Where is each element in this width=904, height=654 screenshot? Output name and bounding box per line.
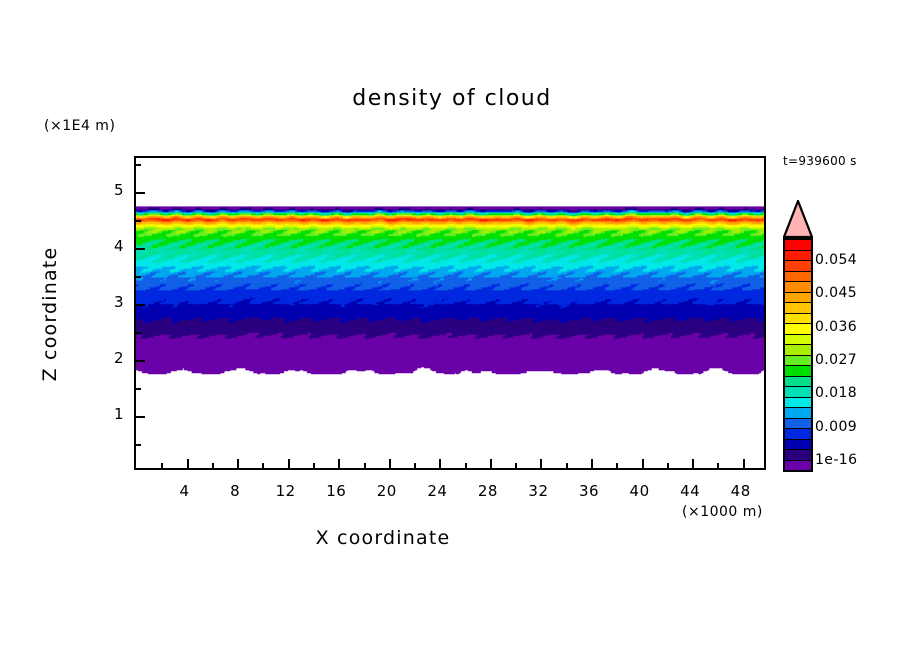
colorbar-extend-arrow-icon	[783, 200, 813, 238]
colorbar-band	[785, 408, 811, 419]
y-tick-minor	[136, 164, 141, 166]
colorbar-tick-label: 0.018	[815, 385, 857, 401]
colorbar-band	[785, 440, 811, 451]
y-tick-major	[136, 416, 145, 418]
colorbar-band	[785, 461, 811, 471]
x-tick-minor	[566, 463, 568, 468]
x-tick-minor	[364, 463, 366, 468]
x-tick-major	[692, 459, 694, 468]
x-tick-label: 44	[680, 482, 700, 500]
x-tick-label: 20	[377, 482, 397, 500]
x-tick-label: 48	[731, 482, 751, 500]
x-tick-minor	[414, 463, 416, 468]
y-tick-minor	[136, 388, 141, 390]
y-tick-label: 5	[100, 181, 124, 199]
colorbar-band	[785, 303, 811, 314]
colorbar-band	[785, 251, 811, 262]
x-tick-minor	[667, 463, 669, 468]
colorbar-band	[785, 345, 811, 356]
x-axis-unit-label: (×1000 m)	[682, 504, 763, 520]
time-annotation: t=939600 s	[783, 154, 857, 168]
x-tick-major	[490, 459, 492, 468]
y-tick-minor	[136, 220, 141, 222]
x-tick-major	[591, 459, 593, 468]
x-tick-label: 16	[326, 482, 346, 500]
y-tick-major	[136, 304, 145, 306]
density-field-heatmap	[136, 158, 764, 468]
x-tick-label: 24	[427, 482, 447, 500]
x-tick-label: 32	[528, 482, 548, 500]
chart-title: density of cloud	[0, 86, 904, 111]
y-axis-title: Z coordinate	[39, 219, 61, 409]
colorbar-band	[785, 356, 811, 367]
x-tick-major	[389, 459, 391, 468]
x-tick-minor	[262, 463, 264, 468]
colorbar-tick-label: 0.036	[815, 319, 857, 335]
colorbar-tick-label: 0.009	[815, 419, 857, 435]
y-tick-minor	[136, 332, 141, 334]
y-tick-label: 1	[100, 405, 124, 423]
x-tick-major	[439, 459, 441, 468]
colorbar-band	[785, 293, 811, 304]
x-tick-minor	[212, 463, 214, 468]
y-tick-minor	[136, 276, 141, 278]
colorbar-band	[785, 398, 811, 409]
plot-area	[134, 156, 766, 470]
colorbar-band	[785, 282, 811, 293]
x-tick-major	[288, 459, 290, 468]
x-tick-minor	[465, 463, 467, 468]
x-tick-minor	[313, 463, 315, 468]
x-tick-label: 4	[180, 482, 190, 500]
z-axis-unit-label: (×1E4 m)	[44, 118, 115, 134]
colorbar-band	[785, 429, 811, 440]
x-tick-minor	[161, 463, 163, 468]
colorbar-band	[785, 387, 811, 398]
x-tick-major	[743, 459, 745, 468]
colorbar-band	[785, 335, 811, 346]
x-tick-major	[540, 459, 542, 468]
x-tick-label: 12	[276, 482, 296, 500]
x-tick-label: 36	[579, 482, 599, 500]
x-axis-title: X coordinate	[0, 527, 766, 549]
y-tick-minor	[136, 444, 141, 446]
colorbar-tick-label: 1e-16	[815, 452, 857, 468]
colorbar-band	[785, 324, 811, 335]
colorbar-bands	[783, 238, 813, 472]
y-tick-label: 2	[100, 349, 124, 367]
x-tick-major	[237, 459, 239, 468]
colorbar-band	[785, 314, 811, 325]
x-tick-major	[642, 459, 644, 468]
x-tick-minor	[515, 463, 517, 468]
colorbar: 0.0540.0450.0360.0270.0180.0091e-16	[783, 200, 813, 472]
x-tick-major	[338, 459, 340, 468]
colorbar-band	[785, 272, 811, 283]
colorbar-tick-label: 0.027	[815, 352, 857, 368]
colorbar-band	[785, 366, 811, 377]
colorbar-band	[785, 377, 811, 388]
x-tick-minor	[717, 463, 719, 468]
colorbar-tick-label: 0.045	[815, 285, 857, 301]
x-tick-label: 40	[630, 482, 650, 500]
colorbar-band	[785, 419, 811, 430]
x-tick-label: 28	[478, 482, 498, 500]
y-tick-major	[136, 360, 145, 362]
colorbar-band	[785, 261, 811, 272]
y-tick-major	[136, 192, 145, 194]
x-tick-major	[187, 459, 189, 468]
y-tick-major	[136, 248, 145, 250]
colorbar-tick-label: 0.054	[815, 252, 857, 268]
colorbar-band	[785, 450, 811, 461]
x-tick-label: 8	[230, 482, 240, 500]
colorbar-band	[785, 240, 811, 251]
y-tick-label: 4	[100, 237, 124, 255]
y-tick-label: 3	[100, 293, 124, 311]
x-tick-minor	[616, 463, 618, 468]
